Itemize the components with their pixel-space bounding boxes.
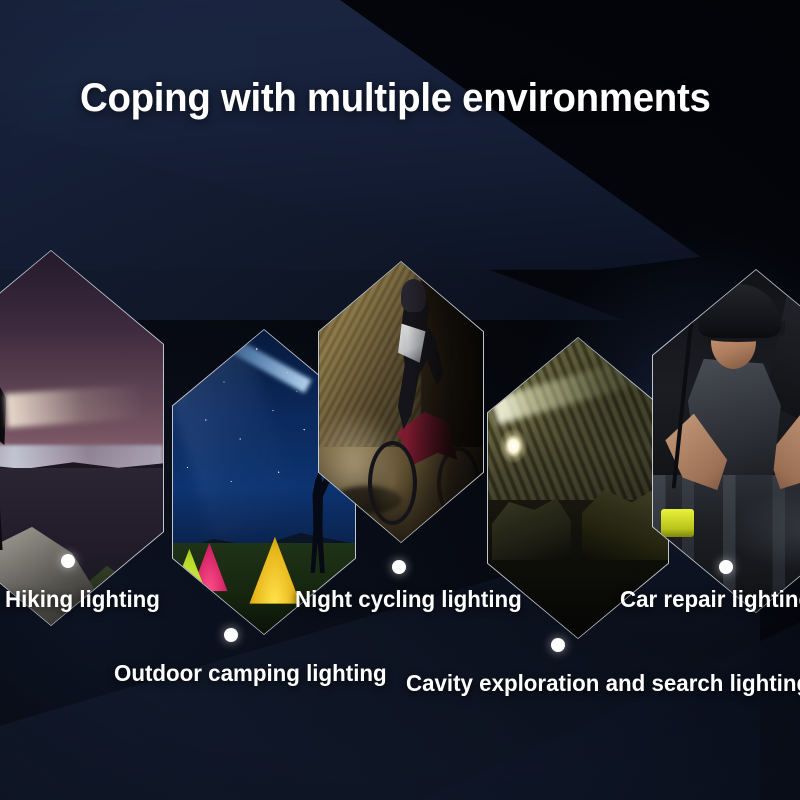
- promo-banner: Coping with multiple environments: [0, 0, 800, 800]
- label-car-repair: Car repair lighting: [620, 586, 800, 613]
- label-outdoor-camping: Outdoor camping lighting: [114, 660, 387, 687]
- label-hiking: Hiking lighting: [5, 586, 160, 613]
- dot-marker-cavity-exploration: [551, 638, 565, 652]
- dot-marker-hiking: [61, 554, 75, 568]
- label-cavity-exploration: Cavity exploration and search lighting: [406, 670, 800, 697]
- label-night-cycling: Night cycling lighting: [295, 586, 522, 613]
- dot-marker-outdoor-camping: [224, 628, 238, 642]
- dot-marker-night-cycling: [392, 560, 406, 574]
- dot-marker-car-repair: [719, 560, 733, 574]
